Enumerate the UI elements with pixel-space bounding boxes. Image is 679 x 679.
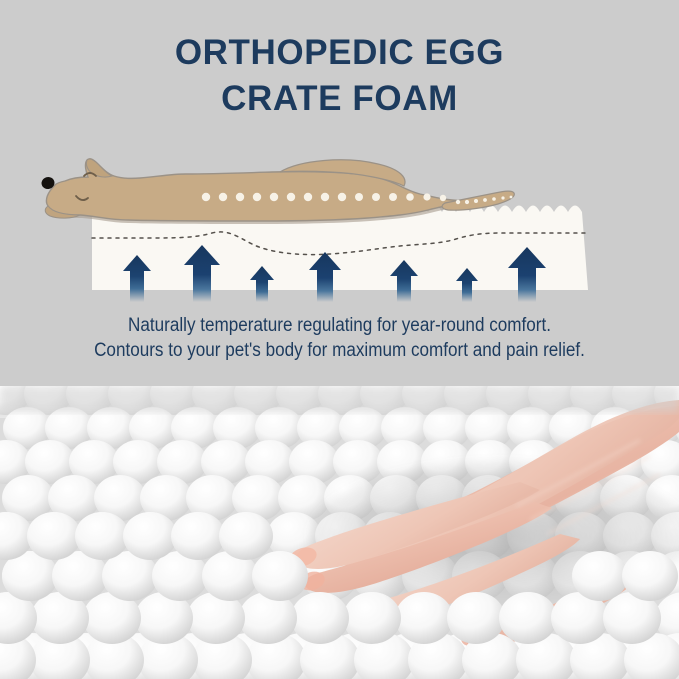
headline-line-1: ORTHOPEDIC EGG [0, 30, 679, 76]
feature-line-1: Naturally temperature regulating for yea… [34, 313, 645, 338]
infographic-panel: ORTHOPEDIC EGG CRATE FOAM [0, 0, 679, 386]
feature-description: Naturally temperature regulating for yea… [0, 313, 679, 363]
product-feature-poster: ORTHOPEDIC EGG CRATE FOAM [0, 0, 679, 679]
foam-support-illustration [0, 120, 679, 310]
feature-line-2: Contours to your pet's body for maximum … [34, 338, 645, 363]
headline-line-2: CRATE FOAM [0, 76, 679, 122]
foam-closeup-photo [0, 386, 679, 679]
page-title: ORTHOPEDIC EGG CRATE FOAM [0, 30, 679, 122]
